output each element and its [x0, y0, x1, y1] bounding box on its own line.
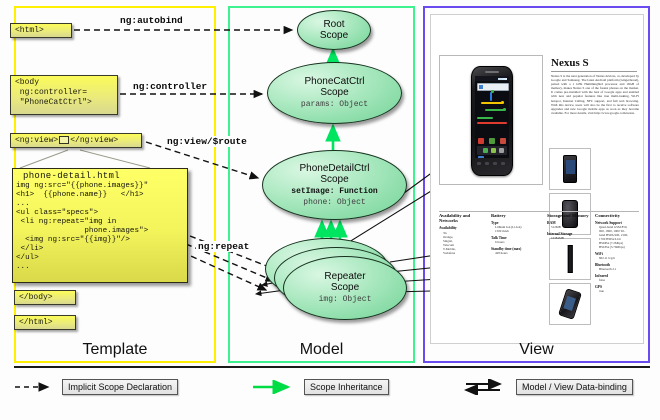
specs-column-availability: Availability and Networks Availability 3… — [439, 213, 481, 255]
specs-value: 1500 mAh — [491, 229, 541, 233]
root-scope: Root Scope — [297, 10, 371, 50]
phone-button — [477, 162, 481, 165]
phone-dot-green-2 — [503, 108, 506, 111]
phone-widget-line-red — [477, 122, 507, 124]
phone-screen — [475, 76, 509, 158]
column-label-view: View — [423, 341, 650, 359]
phone-angle-icon — [558, 288, 582, 320]
label-ng-repeat: ng:repeat — [196, 241, 251, 252]
phonecatctrl-scope-prop-params: params: Object — [301, 100, 368, 110]
nexus-s-phone-image — [471, 66, 513, 176]
phone-app-icon — [489, 138, 495, 144]
column-label-template: Template — [14, 341, 216, 359]
root-scope-line2: Scope — [320, 30, 348, 41]
thumbnail-side[interactable] — [549, 238, 591, 280]
legend-green-arrow-icon — [252, 380, 298, 394]
body-close-tag-box: </body> — [14, 290, 76, 305]
rendered-view-page: Nexus S Nexus S is the next generation o… — [430, 14, 644, 344]
phone-front-icon — [563, 155, 577, 183]
phonedetailctrl-scope-line1: PhoneDetailCtrl — [299, 163, 369, 174]
specs-column-battery: Battery Type Lithium Ion (Li-Ion) 1500 m… — [491, 213, 541, 255]
specs-value: Vodafone — [439, 251, 481, 255]
legend-item-implicit-scope-declaration: Implicit Scope Declaration — [14, 376, 178, 398]
specs-value: false — [595, 278, 645, 282]
phone-widget-line-green2 — [477, 117, 493, 119]
phonedetailctrl-scope-prop-setimage: setImage: Function — [291, 187, 377, 197]
phonedetailctrl-scope: PhoneDetailCtrl Scope setImage: Function… — [262, 150, 407, 220]
phone-dock-icon — [491, 148, 496, 153]
specs-value: Bluetooth 2.1 — [595, 267, 645, 271]
phone-dock-icon — [499, 148, 504, 153]
legend-label: Model / View Data-binding — [516, 379, 633, 395]
label-ng-controller: ng:controller — [131, 81, 209, 92]
specs-value: true — [595, 289, 645, 293]
legend-item-model-view-data-binding: Model / View Data-binding — [464, 376, 633, 398]
ngview-tag-box: <ng:view></ng:view> — [10, 133, 142, 148]
specs-value: 16384MB — [547, 236, 593, 240]
legend-double-arrow-icon — [464, 379, 510, 395]
product-title: Nexus S — [551, 57, 589, 69]
column-label-model: Model — [228, 341, 415, 359]
ngview-placeholder-square — [59, 136, 69, 144]
phone-dot-yellow-1 — [501, 101, 504, 104]
phone-app-icon — [500, 138, 506, 144]
specs-value: 428 hours — [491, 251, 541, 255]
phone-button — [485, 162, 489, 165]
phone-statusbar — [475, 76, 509, 81]
ngview-close-label: </ng:view> — [70, 136, 118, 145]
label-ng-view-route: ng:view/$route — [165, 136, 249, 147]
repeater-scope-line1: Repeater — [324, 271, 365, 282]
phone-widget-line-blue — [490, 92, 492, 101]
phone-dock-icon — [483, 148, 488, 153]
ngview-open-label: <ng:view> — [15, 136, 58, 145]
phone-app-icon-row — [477, 131, 507, 143]
phone-app-icon — [478, 156, 484, 158]
repeater-scope-line2: Scope — [331, 282, 359, 293]
legend-label: Implicit Scope Declaration — [62, 379, 178, 395]
phone-widget-line-green — [485, 109, 505, 111]
phone-detail-callout: phone-detail.html img ng:src="{{phone.im… — [12, 168, 188, 283]
specs-divider — [439, 211, 639, 212]
specs-value: 802.11 b/g/n — [595, 256, 645, 260]
phone-hero-image-frame — [439, 55, 543, 185]
legend-dashed-arrow-icon — [14, 380, 56, 394]
diagram-canvas: <html> <body ng:controller= "PhoneCatCtr… — [0, 0, 660, 420]
phone-app-icon — [478, 138, 484, 144]
legend-item-scope-inheritance: Scope Inheritance — [252, 376, 389, 398]
thumbnail-front[interactable] — [549, 148, 591, 190]
phone-dot-green-1 — [491, 90, 494, 93]
phone-speaker — [485, 71, 499, 73]
legend: Implicit Scope Declaration Scope Inherit… — [14, 376, 650, 402]
callout-code: img ng:src="{{phone.images}}" <h1> {{pho… — [13, 182, 187, 272]
phone-hardware-buttons — [475, 161, 509, 167]
specs-column-connectivity: Connectivity Network Support Quad-band G… — [595, 213, 645, 293]
specs-value: 6 hours — [491, 240, 541, 244]
phone-button — [493, 162, 497, 165]
body-open-tag-box: <body ng:controller= "PhoneCatCtrl"> — [10, 75, 118, 115]
phonedetailctrl-scope-line2: Scope — [320, 174, 348, 185]
html-close-tag-box: </html> — [14, 315, 76, 330]
specs-heading: Availability and Networks — [439, 213, 481, 224]
phonecatctrl-scope-line1: PhoneCatCtrl — [304, 76, 364, 87]
root-scope-line1: Root — [323, 19, 344, 30]
phone-widget-line-yellow — [481, 102, 503, 104]
legend-label: Scope Inheritance — [304, 379, 389, 395]
specs-heading: Connectivity — [595, 213, 645, 218]
callout-filename: phone-detail.html — [13, 169, 187, 182]
phone-dock-bar — [477, 146, 507, 155]
specs-column-storage: Storage and Memory RAM 512MB Internal St… — [547, 213, 593, 240]
specs-value: 512MB — [547, 225, 593, 229]
label-ng-autobind: ng:autobind — [118, 15, 185, 26]
thumbnail-angle[interactable] — [549, 283, 591, 325]
phone-side-icon — [568, 245, 573, 273]
phone-button — [501, 162, 505, 165]
product-description: Nexus S is the next generation of Nexus … — [551, 74, 639, 115]
phonecatctrl-scope: PhoneCatCtrl Scope params: Object — [267, 62, 402, 124]
repeater-scope: Repeater Scope img: Object — [283, 256, 407, 320]
specs-heading: Battery — [491, 213, 541, 218]
repeater-scope-prop-img: img: Object — [319, 295, 372, 305]
specs-value: HSUPA (5.76Mbps) — [595, 245, 645, 249]
legend-divider — [14, 366, 650, 368]
specs-heading: Storage and Memory — [547, 213, 593, 218]
html-open-tag-box: <html> — [10, 23, 72, 38]
phonecatctrl-scope-line2: Scope — [320, 87, 348, 98]
phonedetailctrl-scope-prop-phone: phone: Object — [303, 198, 365, 208]
title-divider — [551, 71, 637, 72]
